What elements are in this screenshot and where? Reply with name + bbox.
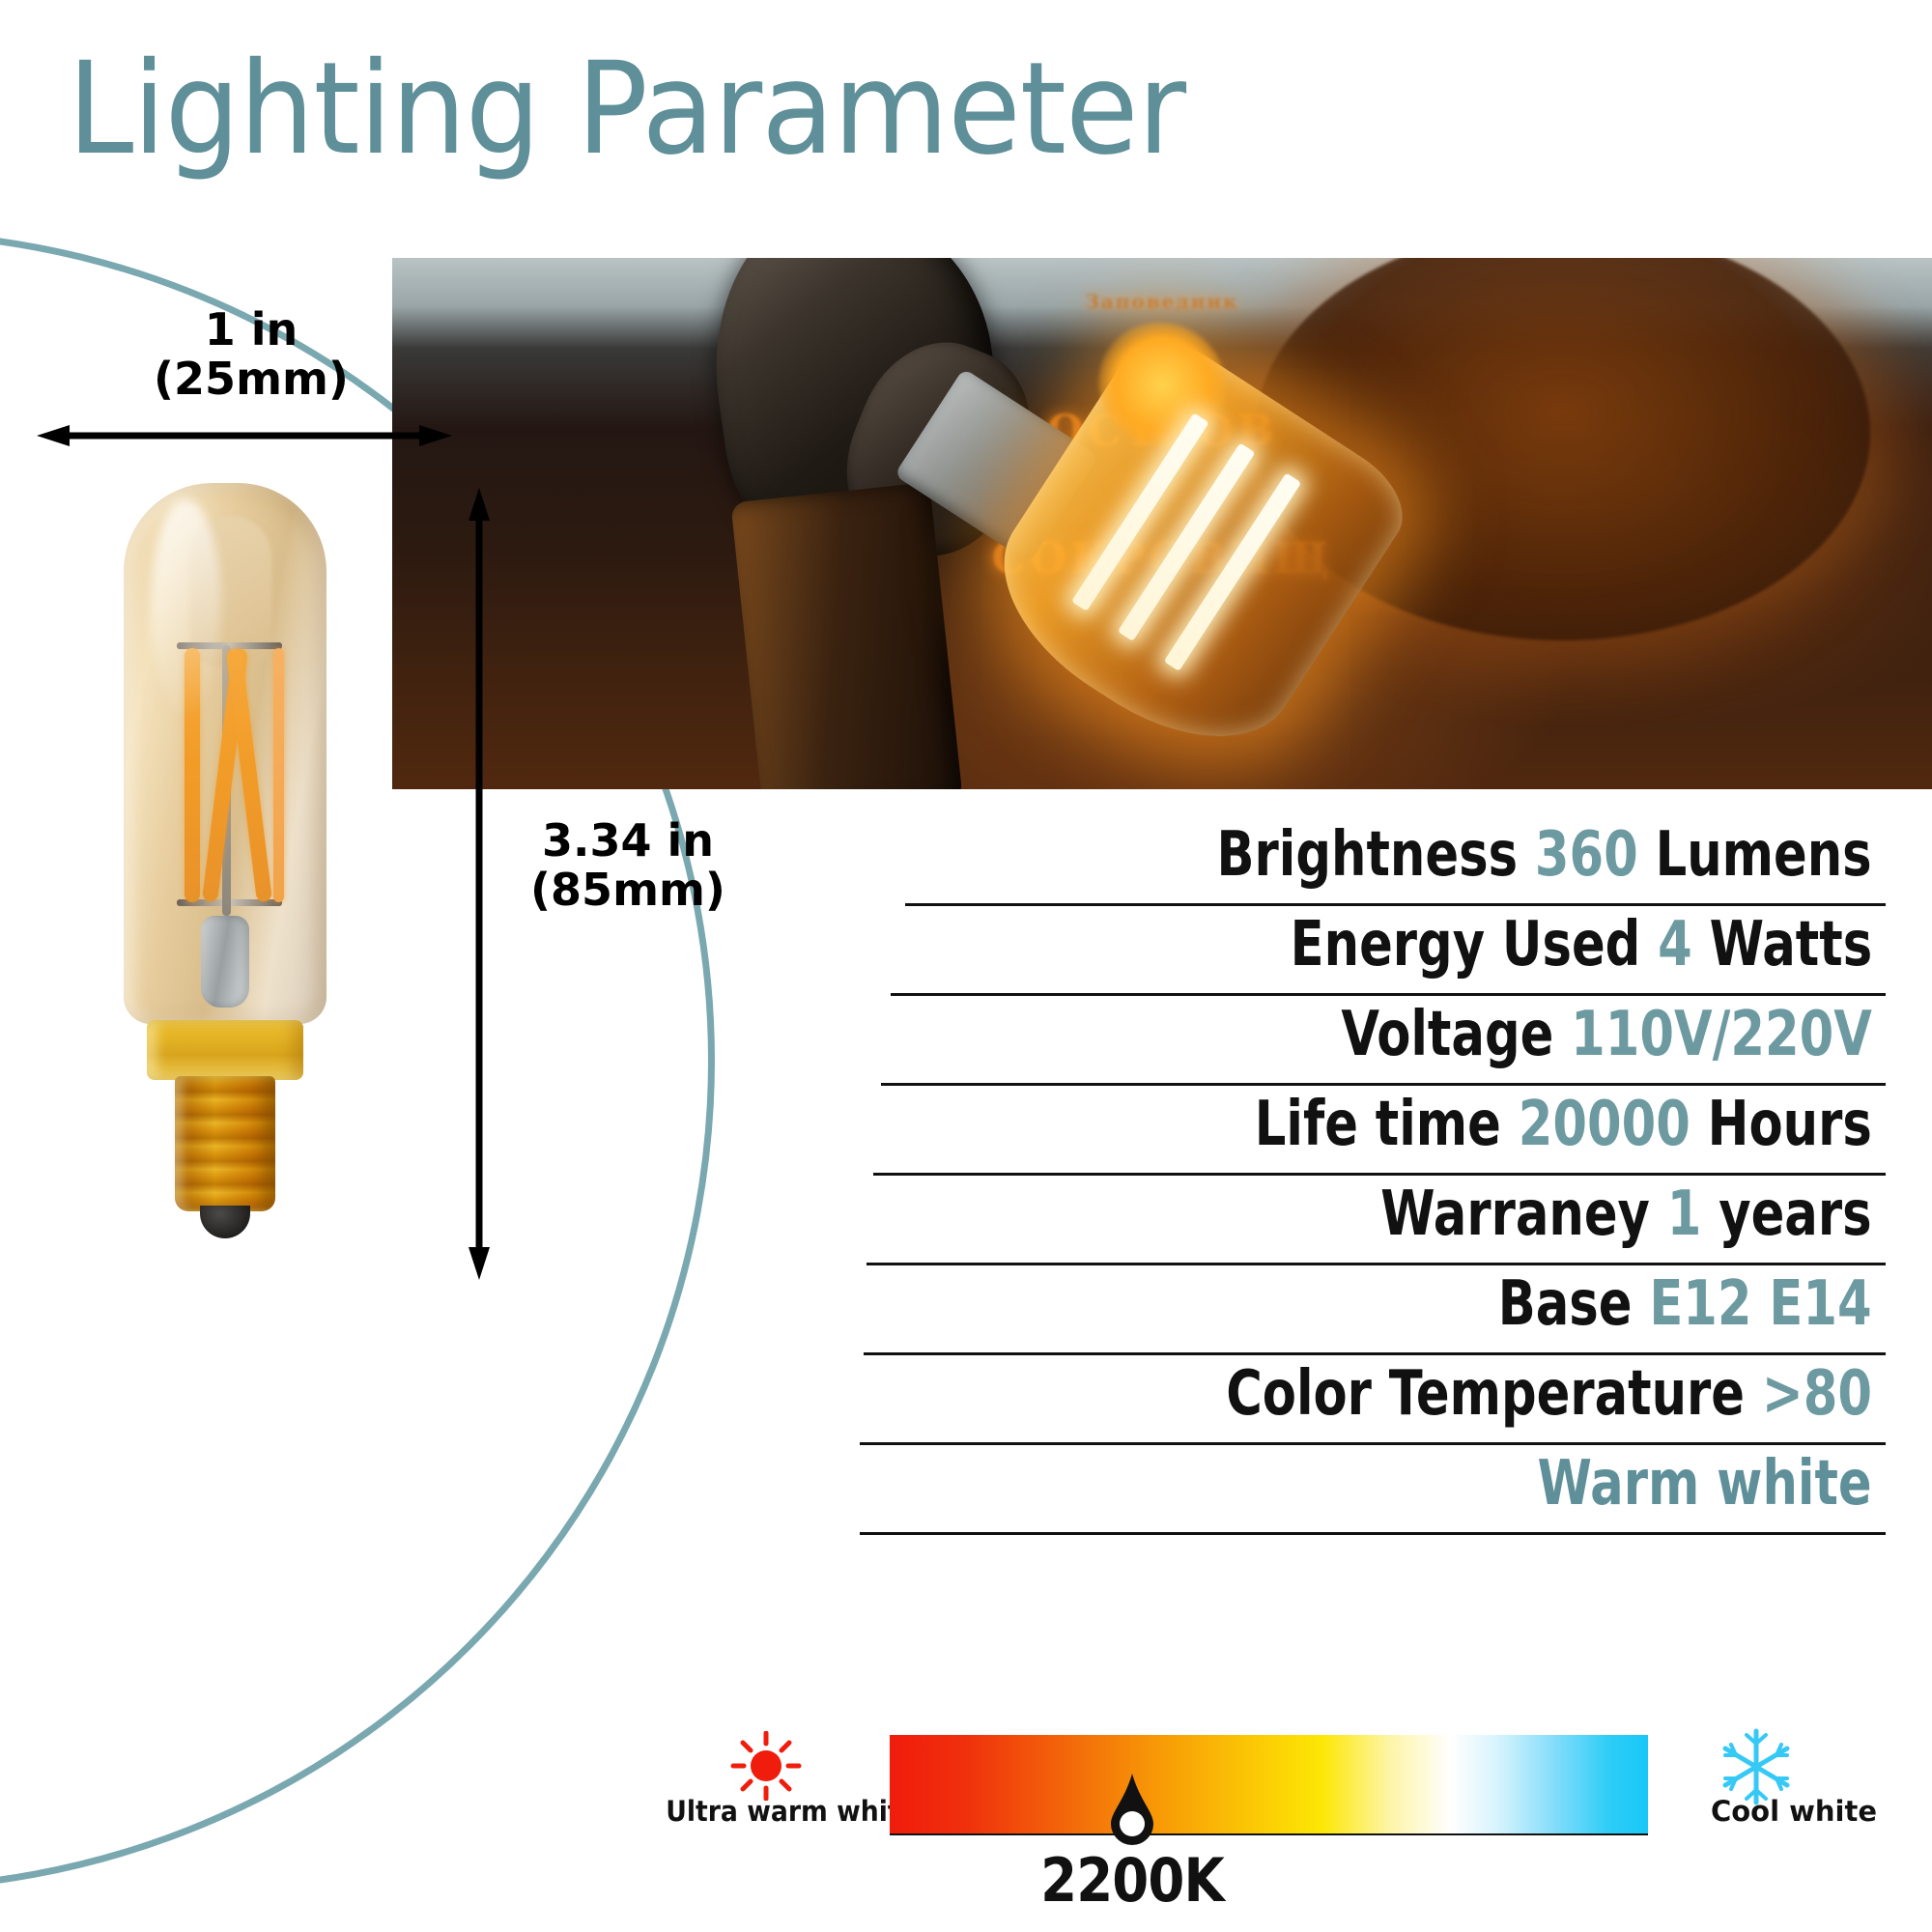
specification-list: Brightness 360 Lumens Energy Used 4 Watt… bbox=[734, 816, 1932, 1535]
cool-white-label: Cool white bbox=[1654, 1795, 1932, 1828]
width-dimension-line2: (25mm) bbox=[43, 355, 459, 404]
spec-value-color-temperature: >80 bbox=[1762, 1358, 1872, 1430]
spec-value-base: E12 E14 bbox=[1650, 1268, 1872, 1340]
bulb-glass-envelope bbox=[124, 483, 327, 1024]
spec-value-brightness: 360 bbox=[1535, 819, 1638, 891]
spec-value-energy-used: 4 bbox=[1658, 909, 1692, 980]
spec-row-text: Energy Used 4 Watts bbox=[1290, 906, 1872, 977]
spec-row-warm-white: Warm white bbox=[734, 1445, 1932, 1535]
color-temperature-scale: Ultra warm white Cool white 2200K bbox=[667, 1727, 1932, 1932]
spec-row-text: Brightness 360 Lumens bbox=[1217, 816, 1872, 887]
temperature-gradient-bar bbox=[890, 1735, 1648, 1835]
spec-value-warranty: 1 bbox=[1667, 1179, 1702, 1250]
spec-unit-life-time: Hours bbox=[1708, 1089, 1872, 1160]
spec-row-text: Color Temperature >80 bbox=[1226, 1355, 1872, 1426]
height-dimension-label: 3.34 in (85mm) bbox=[502, 816, 753, 914]
temperature-marker-pin bbox=[1111, 1774, 1153, 1849]
sun-icon bbox=[727, 1731, 805, 1801]
page-title: Lighting Parameter bbox=[68, 43, 1185, 177]
ultra-warm-white-label: Ultra warm white bbox=[666, 1795, 870, 1828]
bulb-contact-tip bbox=[200, 1206, 250, 1238]
spec-divider bbox=[860, 1532, 1886, 1535]
spec-row-voltage: Voltage 110V/220V bbox=[734, 996, 1932, 1086]
spec-row-text: Voltage 110V/220V bbox=[1342, 996, 1872, 1066]
width-dimension-line1: 1 in bbox=[43, 305, 459, 355]
spec-unit-energy-used: Watts bbox=[1709, 909, 1872, 980]
spec-row-life-time: Life time 20000 Hours bbox=[734, 1086, 1932, 1176]
bulb-screw-thread bbox=[175, 1076, 275, 1211]
spec-label-brightness: Brightness bbox=[1217, 819, 1519, 891]
spec-row-text: Life time 20000 Hours bbox=[1255, 1086, 1872, 1156]
product-photo: Заповедник ОСТРОВ СОКРОВИЩ bbox=[392, 258, 1932, 789]
width-dimension-label: 1 in (25mm) bbox=[43, 305, 459, 403]
spec-row-base: Base E12 E14 bbox=[734, 1265, 1932, 1355]
led-filament bbox=[185, 648, 200, 902]
spec-label-life-time: Life time bbox=[1255, 1089, 1501, 1160]
temperature-marker-value: 2200K bbox=[1022, 1845, 1243, 1916]
photo-sign-text-top: Заповедник bbox=[392, 290, 1932, 313]
spec-value-life-time: 20000 bbox=[1519, 1089, 1690, 1160]
spec-label-warranty: Warraney bbox=[1381, 1179, 1651, 1250]
width-dimension-arrow bbox=[37, 425, 452, 446]
pipe-downspout bbox=[730, 482, 963, 789]
spec-row-text: Warraney 1 years bbox=[1381, 1176, 1872, 1246]
spec-unit-warranty: years bbox=[1719, 1179, 1872, 1250]
spec-label-base: Base bbox=[1498, 1268, 1633, 1340]
spec-row-color-temperature: Color Temperature >80 bbox=[734, 1355, 1932, 1445]
spec-row-text: Base E12 E14 bbox=[1498, 1265, 1872, 1336]
spec-row-brightness: Brightness 360 Lumens bbox=[734, 816, 1932, 906]
spec-row-text: Warm white bbox=[1538, 1445, 1872, 1516]
height-dimension-arrow bbox=[469, 488, 490, 1280]
height-dimension-line2: (85mm) bbox=[502, 866, 753, 915]
spec-label-voltage: Voltage bbox=[1342, 999, 1554, 1070]
spec-unit-brightness: Lumens bbox=[1656, 819, 1872, 891]
spec-row-warranty: Warraney 1 years bbox=[734, 1176, 1932, 1265]
bulb-glass-stem bbox=[201, 916, 249, 1008]
led-filament bbox=[273, 648, 284, 902]
bulb-product-illustration bbox=[124, 483, 327, 1285]
spec-row-energy-used: Energy Used 4 Watts bbox=[734, 906, 1932, 996]
bulb-base-collar bbox=[147, 1020, 303, 1080]
height-dimension-line1: 3.34 in bbox=[502, 816, 753, 866]
spec-label-energy-used: Energy Used bbox=[1290, 909, 1640, 980]
spec-value-voltage: 110V/220V bbox=[1571, 999, 1872, 1070]
spec-label-color-temperature: Color Temperature bbox=[1226, 1358, 1745, 1430]
